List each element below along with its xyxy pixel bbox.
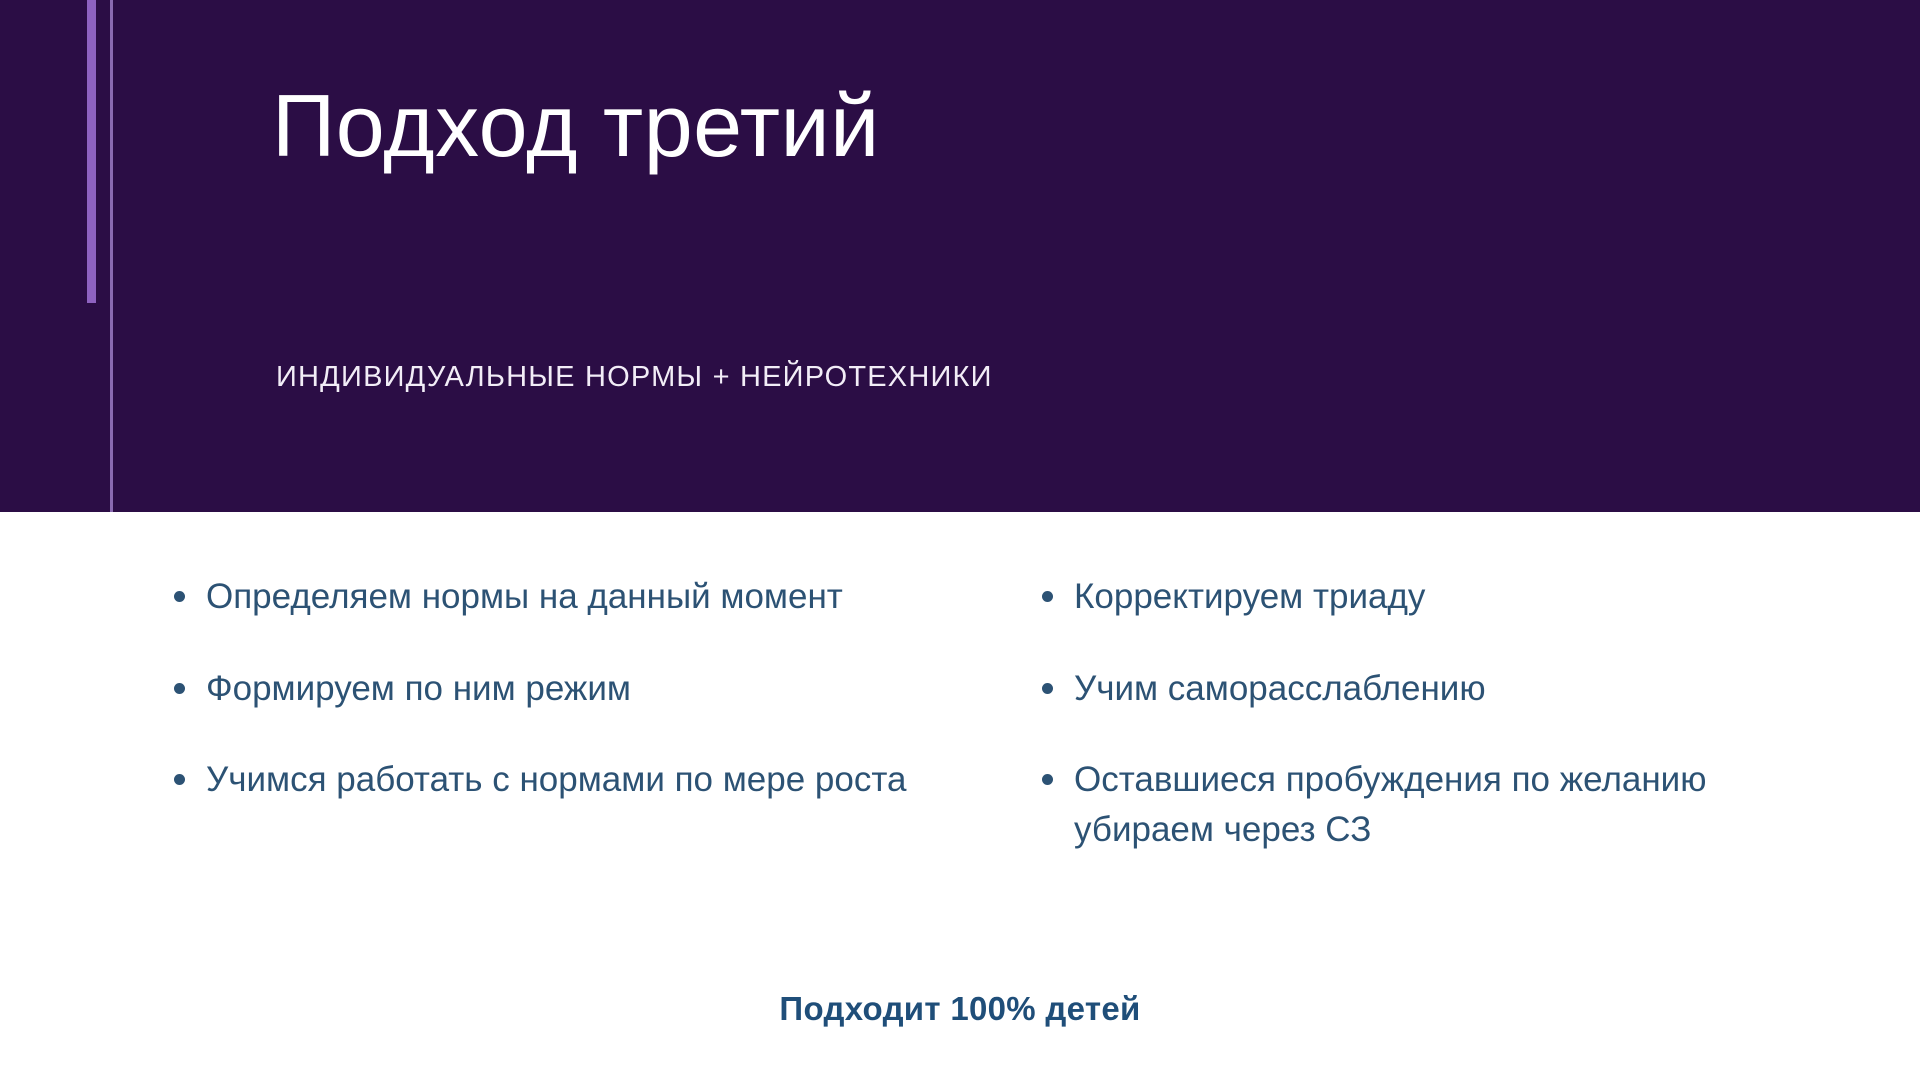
list-item: Оставшиеся пробуждения по желанию убирае… (1038, 755, 1738, 854)
bullet-dot-icon (174, 683, 185, 694)
list-item-label: Учимся работать с нормами по мере роста (206, 760, 906, 799)
bullet-dot-icon (1042, 683, 1053, 694)
bullet-dot-icon (174, 591, 185, 602)
slide-subtitle: ИНДИВИДУАЛЬНЫЕ НОРМЫ + НЕЙРОТЕХНИКИ (276, 360, 1676, 395)
accent-bar (87, 0, 96, 303)
footnote-text: Подходит 100% детей (0, 990, 1920, 1028)
list-item-label: Корректируем триаду (1074, 577, 1425, 616)
list-item-label: Определяем нормы на данный момент (206, 577, 843, 616)
bullet-dot-icon (174, 774, 185, 785)
bullet-dot-icon (1042, 774, 1053, 785)
list-item-label: Учим самораccлаблению (1074, 669, 1486, 708)
slide-title: Подход третий (272, 80, 1672, 172)
left-bullet-list: Определяем нормы на данный момент Формир… (170, 572, 960, 805)
right-column: Корректируем триаду Учим самораccлаблени… (1038, 572, 1738, 855)
list-item-label: Оставшиеся пробуждения по желанию убирае… (1074, 760, 1706, 849)
bullet-columns: Определяем нормы на данный момент Формир… (0, 572, 1920, 855)
list-item: Корректируем триаду (1038, 572, 1738, 622)
list-item: Определяем нормы на данный момент (170, 572, 960, 622)
list-item: Учимся работать с нормами по мере роста (170, 755, 960, 805)
bullet-dot-icon (1042, 591, 1053, 602)
list-item: Формируем по ним режим (170, 664, 960, 714)
right-bullet-list: Корректируем триаду Учим самораccлаблени… (1038, 572, 1738, 855)
body-area: Определяем нормы на данный момент Формир… (0, 512, 1920, 1080)
slide: Подход третий ИНДИВИДУАЛЬНЫЕ НОРМЫ + НЕЙ… (0, 0, 1920, 1080)
left-column: Определяем нормы на данный момент Формир… (170, 572, 960, 805)
list-item: Учим самораccлаблению (1038, 664, 1738, 714)
list-item-label: Формируем по ним режим (206, 669, 631, 708)
